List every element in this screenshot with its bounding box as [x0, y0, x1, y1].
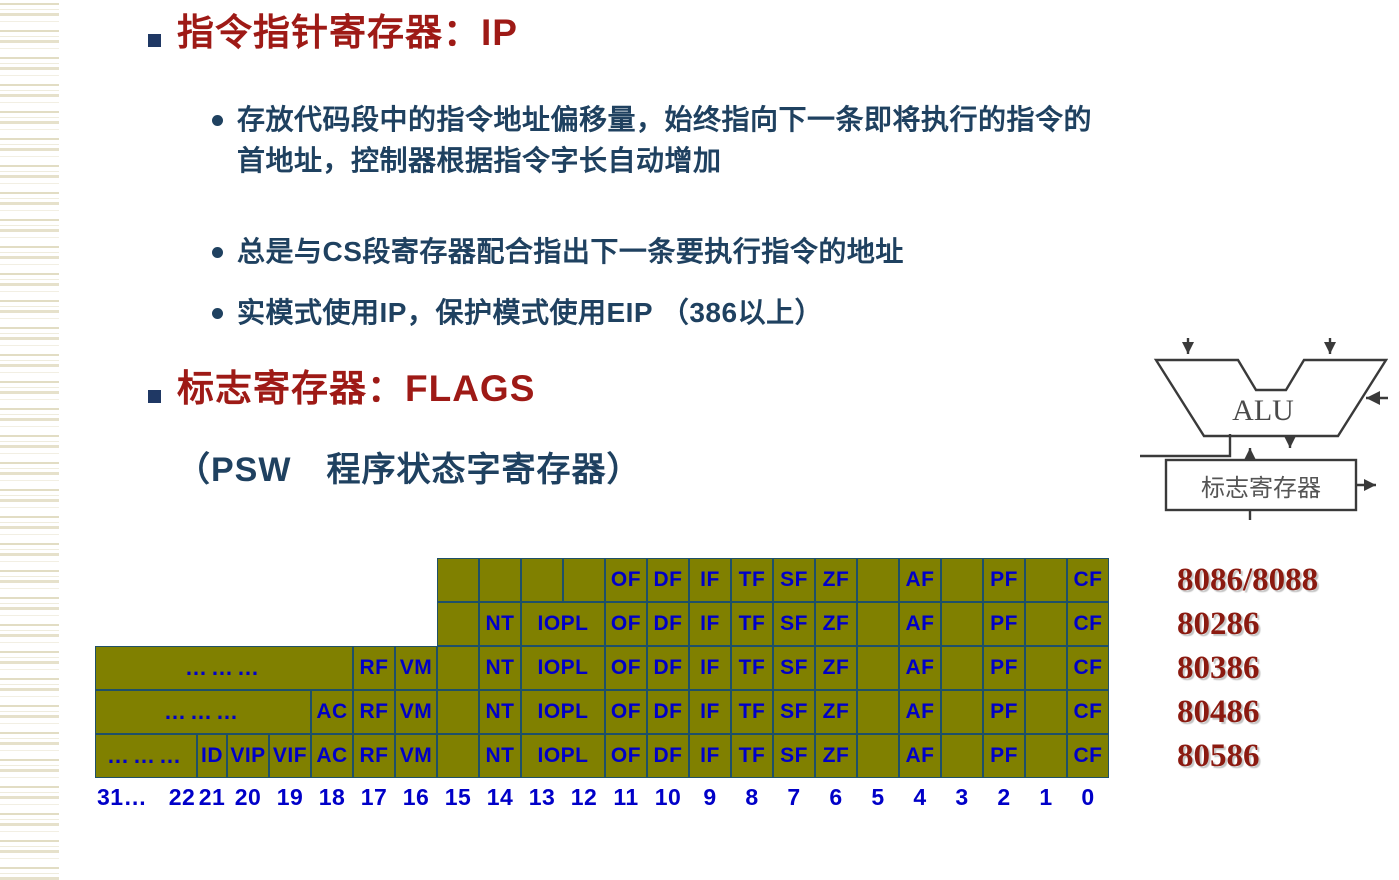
flags-table-row: ………ACRFVMNTIOPLOFDFIFTFSFZFAFPFCF80486: [95, 690, 1175, 734]
flags-cell-empty: [1025, 646, 1067, 690]
flags-cell-sf: SF: [773, 690, 815, 734]
flags-cell-of: OF: [605, 690, 647, 734]
bullet-square-icon: [148, 390, 161, 403]
flags-cell-vif: VIF: [269, 734, 311, 778]
heading-flags-text: 标志寄存器：FLAGS: [177, 368, 535, 411]
flags-cell-sf: SF: [773, 602, 815, 646]
flags-cell-empty: [941, 690, 983, 734]
bullet-ip-1-text: 存放代码段中的指令地址偏移量，始终指向下一条即将执行的指令的 首地址，控制器根据…: [237, 100, 1092, 181]
flags-cell-sf: SF: [773, 558, 815, 602]
flags-row-label: 80286: [1177, 602, 1260, 646]
bit-index-20: 20: [227, 780, 269, 814]
flags-cell-empty: [563, 558, 605, 602]
flags-cell-pf: PF: [983, 558, 1025, 602]
bullet-dot-icon: [212, 115, 223, 126]
bit-index-21: 21: [197, 780, 227, 814]
flags-cell-rf: RF: [353, 646, 395, 690]
heading-flags: 标志寄存器：FLAGS: [148, 368, 535, 411]
flags-cell-tf: TF: [731, 690, 773, 734]
flags-cell-cf: CF: [1067, 646, 1109, 690]
bit-index-14: 14: [479, 780, 521, 814]
flags-cell-rf: RF: [353, 690, 395, 734]
flags-cell-nt: NT: [479, 602, 521, 646]
flags-row-label: 80386: [1177, 646, 1260, 690]
flags-cell-empty: [1025, 734, 1067, 778]
flags-cell-empty: [941, 602, 983, 646]
flags-cell-nt: NT: [479, 734, 521, 778]
bit-index-19: 19: [269, 780, 311, 814]
flags-cell-zf: ZF: [815, 690, 857, 734]
flags-cell-zf: ZF: [815, 602, 857, 646]
flags-cell-zf: ZF: [815, 646, 857, 690]
flags-cell-empty: [437, 646, 479, 690]
bit-index-3: 3: [941, 780, 983, 814]
psw-subtitle: （PSW 程序状态字寄存器）: [176, 442, 641, 491]
flags-cell-pf: PF: [983, 646, 1025, 690]
flags-cell-of: OF: [605, 558, 647, 602]
flags-cell-ac: AC: [311, 690, 353, 734]
flags-cell-: ………: [95, 646, 353, 690]
flags-table-row: NTIOPLOFDFIFTFSFZFAFPFCF80286: [95, 602, 1175, 646]
flags-table-row: ………IDVIPVIFACRFVMNTIOPLOFDFIFTFSFZFAFPFC…: [95, 734, 1175, 778]
heading-ip-text: 指令指针寄存器：IP: [177, 12, 518, 55]
flags-cell-iopl: IOPL: [521, 734, 605, 778]
bit-index-15: 15: [437, 780, 479, 814]
flags-cell-vip: VIP: [227, 734, 269, 778]
bullet-ip-2-text: 总是与CS段寄存器配合指出下一条要执行指令的地址: [237, 232, 904, 273]
flags-cell-if: IF: [689, 646, 731, 690]
flags-cell-df: DF: [647, 646, 689, 690]
flags-cell-tf: TF: [731, 602, 773, 646]
flags-cell-ac: AC: [311, 734, 353, 778]
flags-cell-sf: SF: [773, 646, 815, 690]
flags-cell-of: OF: [605, 602, 647, 646]
flags-cell-sf: SF: [773, 734, 815, 778]
flags-cell-af: AF: [899, 690, 941, 734]
flags-cell-if: IF: [689, 602, 731, 646]
flags-cell-empty: [857, 602, 899, 646]
flags-cell-iopl: IOPL: [521, 646, 605, 690]
flags-cell-of: OF: [605, 734, 647, 778]
flags-cell-empty: [857, 558, 899, 602]
flags-cell-empty: [857, 646, 899, 690]
slide-content: 指令指针寄存器：IP 存放代码段中的指令地址偏移量，始终指向下一条即将执行的指令…: [0, 0, 1399, 880]
bit-index-10: 10: [647, 780, 689, 814]
flags-cell-empty: [941, 558, 983, 602]
flags-table-spacer: [95, 558, 437, 602]
flags-cell-empty: [941, 646, 983, 690]
bit-index-9: 9: [689, 780, 731, 814]
bit-index-7: 7: [773, 780, 815, 814]
flags-cell-iopl: IOPL: [521, 690, 605, 734]
flags-row-label: 80586: [1177, 734, 1260, 778]
flags-box-label: 标志寄存器: [1201, 475, 1321, 502]
flags-cell-pf: PF: [983, 734, 1025, 778]
flags-cell-empty: [1025, 602, 1067, 646]
bit-index-31: 31…: [95, 780, 167, 814]
flags-table-row: OFDFIFTFSFZFAFPFCF8086/8088: [95, 558, 1175, 602]
flags-cell-empty: [1025, 690, 1067, 734]
flags-cell-empty: [941, 734, 983, 778]
bit-index-8: 8: [731, 780, 773, 814]
flags-cell-af: AF: [899, 602, 941, 646]
heading-ip: 指令指针寄存器：IP: [148, 12, 518, 55]
flags-cell-empty: [437, 602, 479, 646]
flags-cell-nt: NT: [479, 646, 521, 690]
bullet-ip-2: 总是与CS段寄存器配合指出下一条要执行指令的地址: [212, 232, 904, 273]
flags-cell-cf: CF: [1067, 690, 1109, 734]
bullet-ip-3-text: 实模式使用IP，保护模式使用EIP （386以上）: [237, 293, 823, 334]
flags-cell-empty: [437, 734, 479, 778]
flags-row-label: 80486: [1177, 690, 1260, 734]
flags-cell-empty: [521, 558, 563, 602]
flags-cell-empty: [857, 734, 899, 778]
flags-cell-zf: ZF: [815, 734, 857, 778]
flags-cell-vm: VM: [395, 646, 437, 690]
flags-cell-df: DF: [647, 734, 689, 778]
flags-cell-if: IF: [689, 734, 731, 778]
flags-cell-iopl: IOPL: [521, 602, 605, 646]
bullet-ip-3: 实模式使用IP，保护模式使用EIP （386以上）: [212, 293, 823, 334]
bullet-ip-1: 存放代码段中的指令地址偏移量，始终指向下一条即将执行的指令的 首地址，控制器根据…: [212, 100, 1232, 181]
alu-label: ALU: [1232, 394, 1294, 427]
flags-cell-tf: TF: [731, 558, 773, 602]
bit-index-row: 31…222120191817161514131211109876543210: [95, 780, 1175, 814]
flags-cell-cf: CF: [1067, 558, 1109, 602]
flags-cell-empty: [437, 690, 479, 734]
bit-index-12: 12: [563, 780, 605, 814]
flags-cell-if: IF: [689, 558, 731, 602]
flags-cell-id: ID: [197, 734, 227, 778]
flags-cell-empty: [437, 558, 479, 602]
flags-cell-if: IF: [689, 690, 731, 734]
flags-cell-cf: CF: [1067, 602, 1109, 646]
flags-cell-vm: VM: [395, 734, 437, 778]
flags-cell-zf: ZF: [815, 558, 857, 602]
bit-index-16: 16: [395, 780, 437, 814]
bit-index-13: 13: [521, 780, 563, 814]
flags-cell-af: AF: [899, 558, 941, 602]
flags-cell-vm: VM: [395, 690, 437, 734]
flags-cell-rf: RF: [353, 734, 395, 778]
flags-table-spacer: [95, 602, 437, 646]
flags-cell-nt: NT: [479, 690, 521, 734]
flags-cell-df: DF: [647, 602, 689, 646]
flags-cell-empty: [857, 690, 899, 734]
bit-index-11: 11: [605, 780, 647, 814]
bit-index-6: 6: [815, 780, 857, 814]
bit-index-22: 22: [167, 780, 197, 814]
bit-index-17: 17: [353, 780, 395, 814]
flags-cell-tf: TF: [731, 646, 773, 690]
bit-index-5: 5: [857, 780, 899, 814]
flags-cell-of: OF: [605, 646, 647, 690]
bullet-square-icon: [148, 34, 161, 47]
flags-cell-df: DF: [647, 558, 689, 602]
flags-cell-cf: CF: [1067, 734, 1109, 778]
flags-cell-pf: PF: [983, 602, 1025, 646]
flags-cell-tf: TF: [731, 734, 773, 778]
flags-cell-: ………: [95, 734, 197, 778]
flags-bit-table: OFDFIFTFSFZFAFPFCF8086/8088NTIOPLOFDFIFT…: [95, 558, 1175, 814]
bullet-dot-icon: [212, 308, 223, 319]
flags-cell-pf: PF: [983, 690, 1025, 734]
flags-table-row: ………RFVMNTIOPLOFDFIFTFSFZFAFPFCF80386: [95, 646, 1175, 690]
bit-index-2: 2: [983, 780, 1025, 814]
flags-row-label: 8086/8088: [1177, 558, 1318, 602]
flags-cell-empty: [1025, 558, 1067, 602]
flags-cell-empty: [479, 558, 521, 602]
bit-index-0: 0: [1067, 780, 1109, 814]
flags-cell-af: AF: [899, 646, 941, 690]
bit-index-4: 4: [899, 780, 941, 814]
alu-diagram: ALU 标志寄存器: [1138, 338, 1388, 520]
bit-index-1: 1: [1025, 780, 1067, 814]
flags-cell-df: DF: [647, 690, 689, 734]
bit-index-18: 18: [311, 780, 353, 814]
flags-cell-: ………: [95, 690, 311, 734]
bullet-dot-icon: [212, 247, 223, 258]
flags-cell-af: AF: [899, 734, 941, 778]
